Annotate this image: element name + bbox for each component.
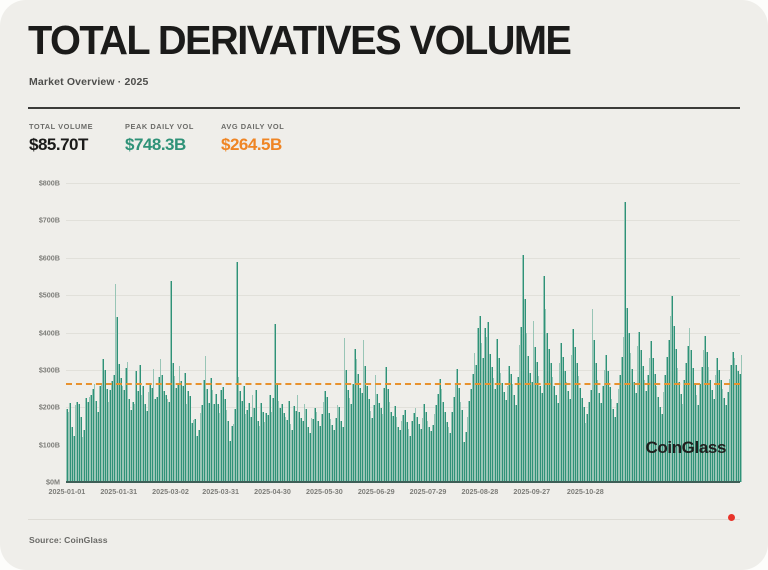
- x-axis-label: 2025-08-28: [462, 487, 499, 496]
- x-axis: 2025-01-012025-01-312025-03-022025-03-31…: [66, 487, 740, 503]
- y-axis-label: $0M: [46, 478, 60, 487]
- stat-label: TOTAL VOLUME: [29, 122, 125, 131]
- page-title: TOTAL DERIVATIVES VOLUME: [28, 20, 570, 61]
- bar: [741, 355, 743, 482]
- x-axis-label: 2025-05-30: [306, 487, 343, 496]
- x-axis-label: 2025-06-29: [358, 487, 395, 496]
- y-axis-label: $300B: [39, 365, 60, 374]
- x-axis-label: 2025-07-29: [410, 487, 447, 496]
- average-line: [66, 383, 740, 385]
- stat-value: $264.5B: [221, 135, 325, 155]
- stat-label: PEAK DAILY VOL: [125, 122, 221, 131]
- bar-series: [66, 183, 740, 482]
- y-axis-label: $100B: [39, 440, 60, 449]
- y-axis-label: $200B: [39, 403, 60, 412]
- chart-card: TOTAL DERIVATIVES VOLUME Market Overview…: [0, 0, 768, 570]
- y-axis-label: $600B: [39, 253, 60, 262]
- stat-value: $85.70T: [29, 135, 125, 155]
- x-axis-label: 2025-03-31: [202, 487, 239, 496]
- y-axis-label: $700B: [39, 216, 60, 225]
- plot-area: $0M$100B$200B$300B$400B$500B$600B$700B$8…: [66, 183, 740, 482]
- y-axis-label: $400B: [39, 328, 60, 337]
- page-subtitle: Market Overview · 2025: [29, 76, 148, 88]
- stat-total-volume: TOTAL VOLUME $85.70T: [29, 122, 125, 155]
- volume-bar-chart: $0M$100B$200B$300B$400B$500B$600B$700B$8…: [0, 176, 768, 496]
- y-axis-label: $500B: [39, 291, 60, 300]
- x-axis-label: 2025-04-30: [254, 487, 291, 496]
- stat-avg-daily-vol: AVG DAILY VOL $264.5B: [221, 122, 325, 155]
- stat-value: $748.3B: [125, 135, 221, 155]
- status-dot: [728, 514, 735, 521]
- x-axis-label: 2025-01-31: [100, 487, 137, 496]
- watermark-label: CoinGlass: [646, 438, 726, 458]
- x-axis-label: 2025-10-28: [567, 487, 604, 496]
- stat-peak-daily-vol: PEAK DAILY VOL $748.3B: [125, 122, 221, 155]
- axis-baseline: [66, 481, 740, 483]
- x-axis-label: 2025-01-01: [48, 487, 85, 496]
- footer-divider: [28, 519, 740, 520]
- x-axis-label: 2025-09-27: [513, 487, 550, 496]
- source-label: Source: CoinGlass: [29, 535, 108, 545]
- x-axis-label: 2025-03-02: [152, 487, 189, 496]
- header-divider: [28, 107, 740, 109]
- stat-label: AVG DAILY VOL: [221, 122, 325, 131]
- stats-row: TOTAL VOLUME $85.70T PEAK DAILY VOL $748…: [29, 122, 325, 155]
- y-axis-label: $800B: [39, 179, 60, 188]
